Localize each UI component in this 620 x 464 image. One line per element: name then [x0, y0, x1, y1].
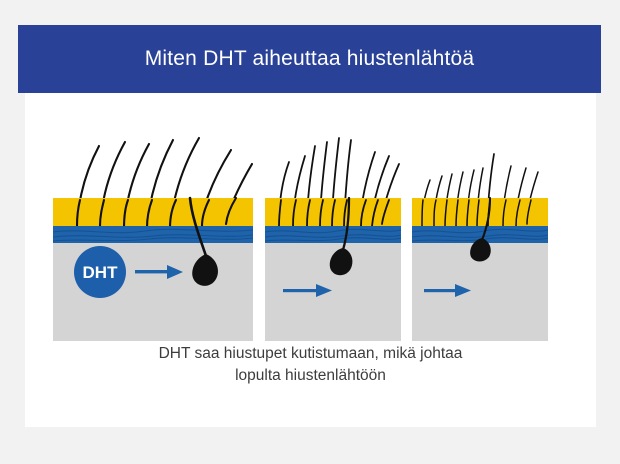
header-banner: Miten DHT aiheuttaa hiustenlähtöä [18, 25, 601, 93]
panel-3-illustration [412, 120, 548, 341]
diagram-panel-stage-1: DHT [53, 120, 253, 341]
diagram-row: DHT [53, 120, 576, 341]
dht-badge: DHT [74, 246, 126, 298]
page-title: Miten DHT aiheuttaa hiustenlähtöä [145, 46, 475, 71]
content-card: DHT [25, 93, 596, 427]
caption-line-1: DHT saa hiustupet kutistumaan, mikä joht… [25, 343, 596, 365]
infographic-page: Miten DHT aiheuttaa hiustenlähtöä [0, 0, 620, 464]
diagram-panel-stage-3 [412, 120, 548, 341]
panel-2-illustration [265, 120, 401, 341]
dht-badge-label: DHT [83, 263, 119, 282]
diagram-panel-stage-2 [265, 120, 401, 341]
epidermis-layer [53, 198, 253, 226]
diagram-caption: DHT saa hiustupet kutistumaan, mikä joht… [25, 343, 596, 388]
panel-1-illustration: DHT [53, 120, 253, 341]
caption-line-2: lopulta hiustenlähtöön [25, 365, 596, 387]
